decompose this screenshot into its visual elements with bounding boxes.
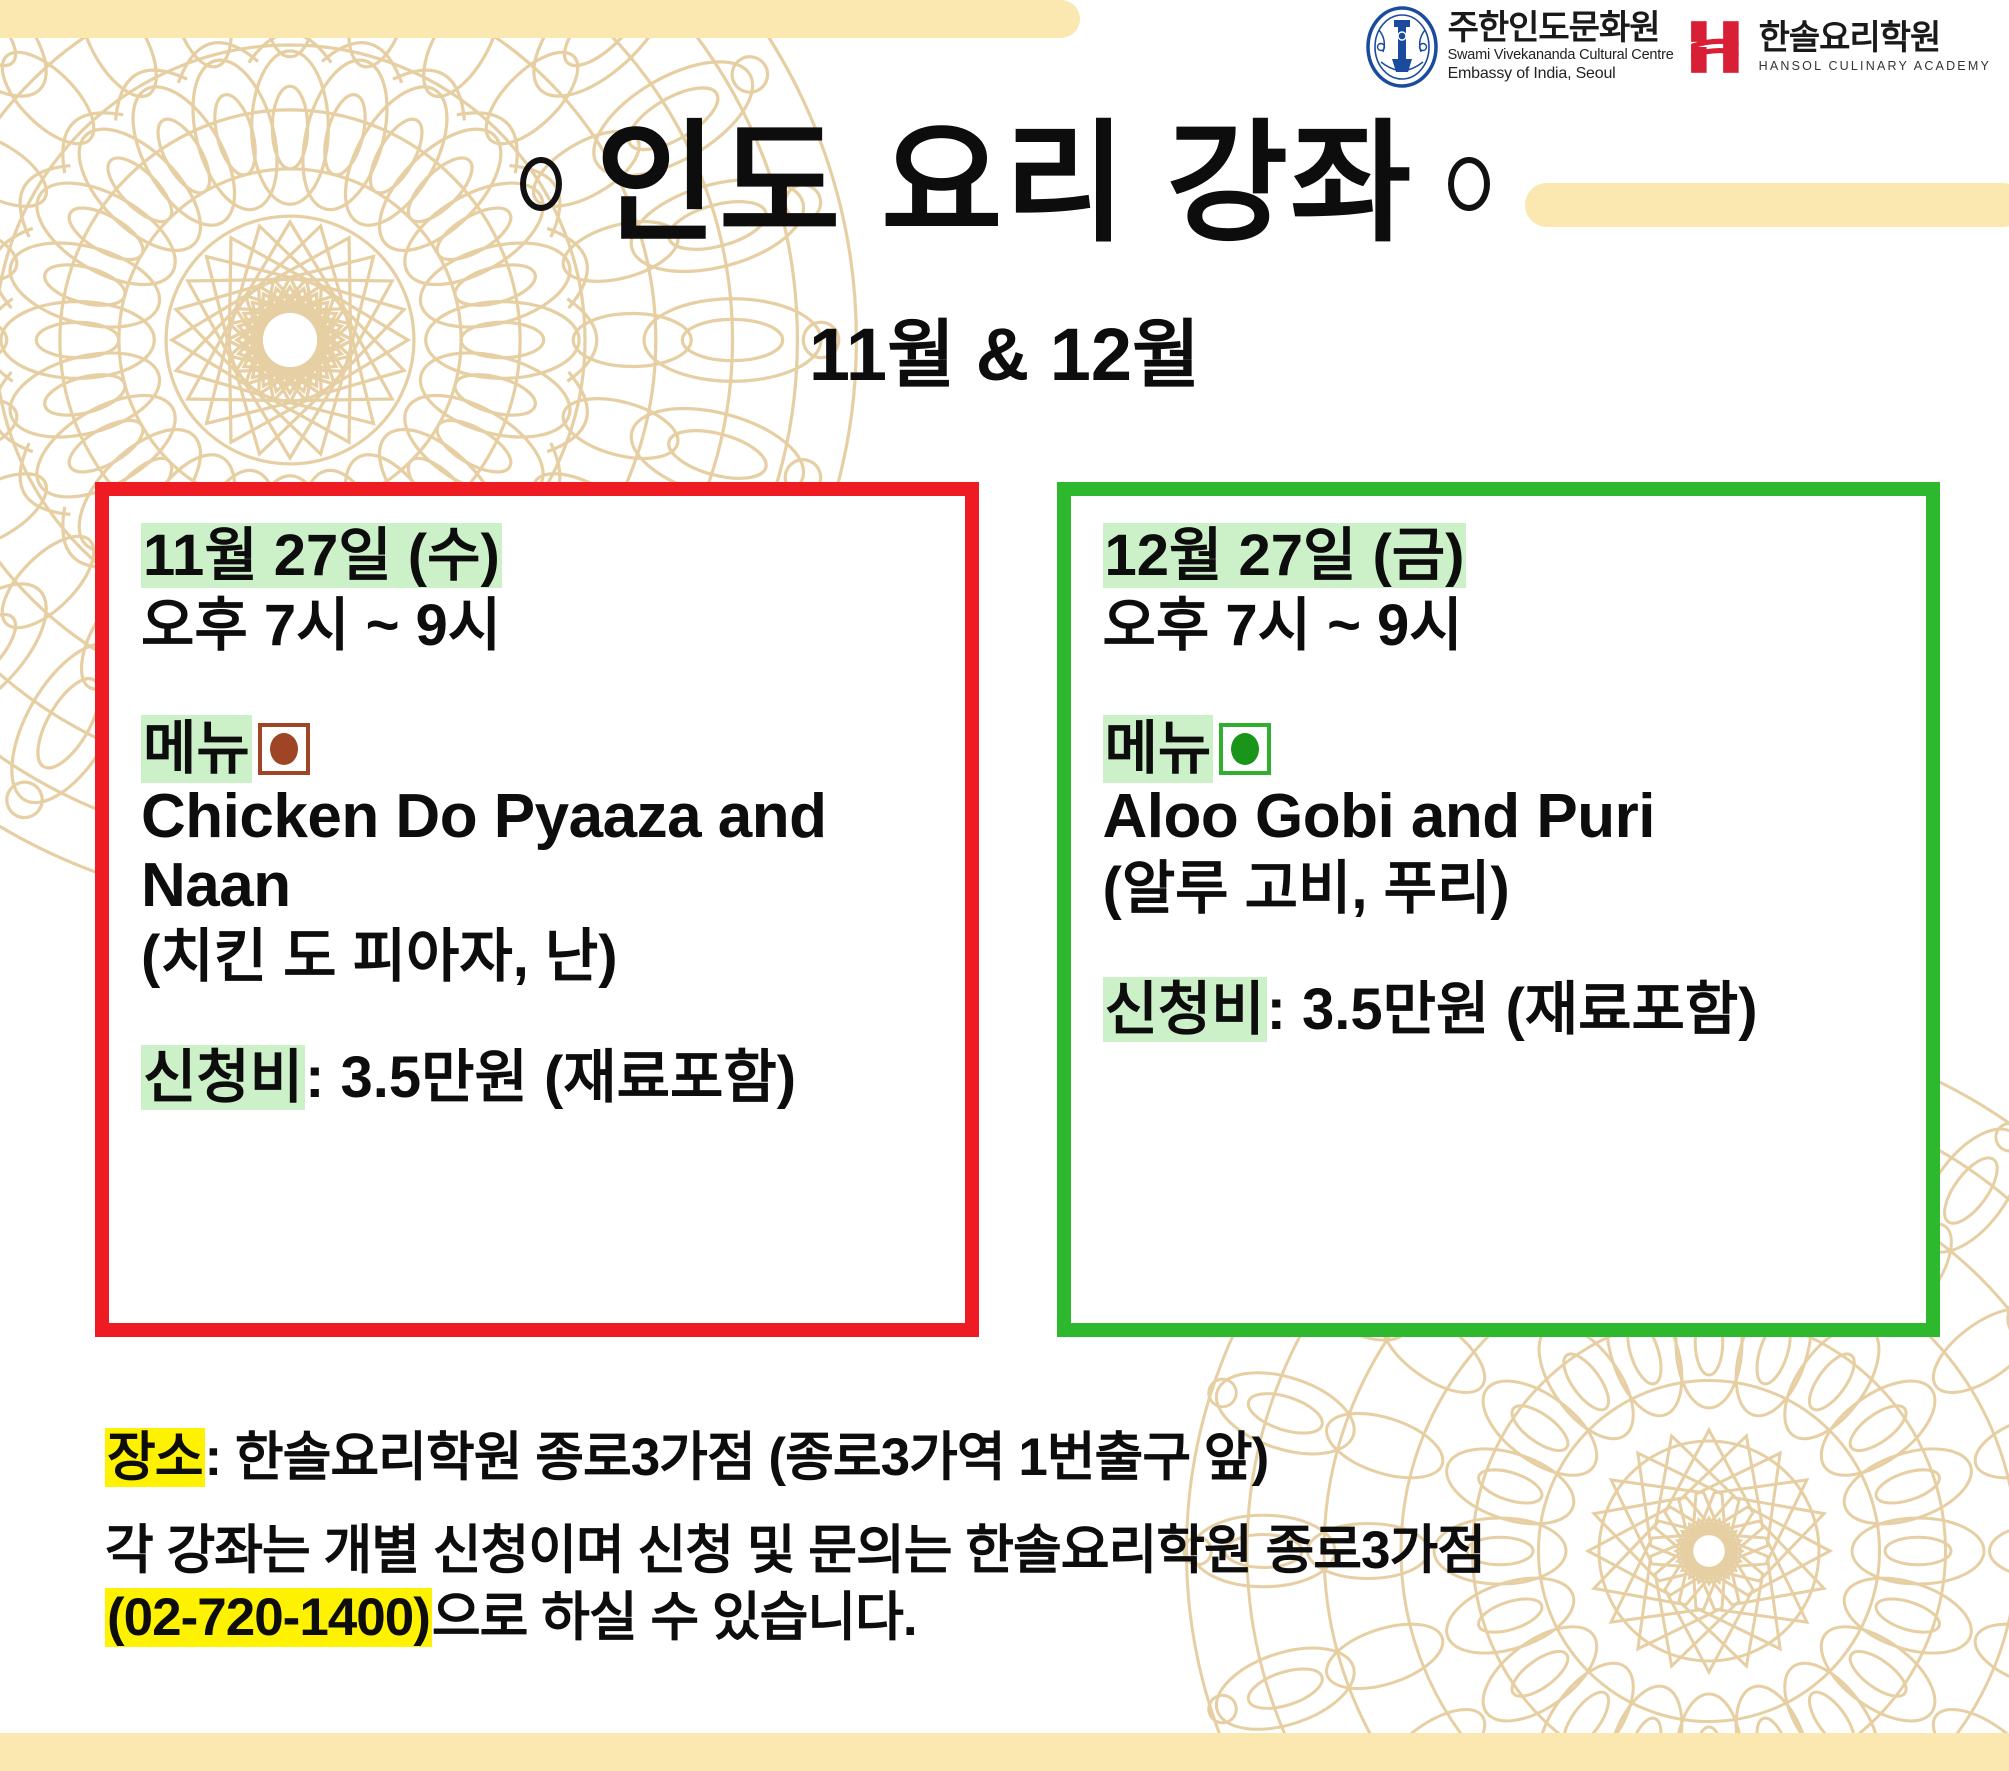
dish-name-en-november: Chicken Do Pyaaza and Naan	[141, 783, 943, 919]
footer-info: 장소: 한솔요리학원 종로3가점 (종로3가역 1번출구 앞) 각 강좌는 개별…	[105, 1425, 1935, 1651]
spacer	[1103, 661, 1905, 715]
logo-india-cultural-centre: 주한인도문화원 Swami Vivekananda Cultural Centr…	[1365, 6, 1674, 88]
accent-bar-top-left	[0, 0, 1080, 38]
logo-hansol-kr-name: 한솔요리학원	[1759, 21, 1991, 57]
venue-line: 장소: 한솔요리학원 종로3가점 (종로3가역 1번출구 앞)	[105, 1425, 1935, 1492]
page-title: 인도 요리 강좌	[596, 118, 1414, 250]
logo-hansol-en-name: HANSOL CULINARY ACADEMY	[1759, 59, 1991, 73]
logo-india-kr-name: 주한인도문화원	[1448, 11, 1674, 47]
header-logos: 주한인도문화원 Swami Vivekananda Cultural Centr…	[1365, 6, 1991, 88]
class-time-december: 오후 7시 ~ 9시	[1103, 592, 1905, 660]
class-time-november: 오후 7시 ~ 9시	[141, 592, 943, 660]
menu-label-december: 메뉴	[1103, 715, 1214, 783]
dish-name-en-december: Aloo Gobi and Puri	[1103, 783, 1905, 851]
circle-ornament-icon-right	[1448, 157, 1490, 211]
page-title-row: 인도 요리 강좌	[0, 118, 2009, 250]
accent-bar-bottom	[0, 1733, 2009, 1771]
dish-name-kr-november: (치킨 도 피아자, 난)	[141, 924, 943, 991]
logo-india-en-line2: Embassy of India, Seoul	[1448, 64, 1674, 83]
hansol-h-mark-icon	[1688, 16, 1750, 78]
class-card-november: 11월 27일 (수) 오후 7시 ~ 9시 메뉴 Chicken Do Pya…	[95, 482, 979, 1337]
logo-india-en-line1: Swami Vivekananda Cultural Centre	[1448, 47, 1674, 64]
spacer	[141, 661, 943, 715]
logo-hansol-culinary-academy: 한솔요리학원 HANSOL CULINARY ACADEMY	[1688, 16, 1991, 78]
non-veg-mark-icon	[258, 723, 310, 775]
menu-label-row-november: 메뉴	[141, 715, 943, 783]
inquiry-tail: 으로 하실 수 있습니다.	[432, 1588, 917, 1647]
phone-number[interactable]: (02-720-1400)	[105, 1588, 432, 1647]
poster-canvas: 주한인도문화원 Swami Vivekananda Cultural Centr…	[0, 0, 2009, 1771]
class-fee-december: 신청비: 3.5만원 (재료포함)	[1103, 976, 1905, 1044]
class-cards-container: 11월 27일 (수) 오후 7시 ~ 9시 메뉴 Chicken Do Pya…	[95, 482, 1940, 1337]
ashoka-pillar-emblem-icon	[1365, 6, 1439, 88]
spacer	[141, 990, 943, 1044]
class-date-november: 11월 27일 (수)	[141, 522, 943, 590]
class-card-december: 12월 27일 (금) 오후 7시 ~ 9시 메뉴 Aloo Gobi and …	[1057, 482, 1941, 1337]
veg-mark-icon	[1219, 723, 1271, 775]
spacer	[1103, 922, 1905, 976]
menu-label-row-december: 메뉴	[1103, 715, 1905, 783]
class-fee-november: 신청비: 3.5만원 (재료포함)	[141, 1044, 943, 1112]
page-subtitle: 11월 & 12월	[0, 295, 2009, 402]
class-date-december: 12월 27일 (금)	[1103, 522, 1905, 590]
dish-name-kr-december: (알루 고비, 푸리)	[1103, 856, 1905, 923]
venue-value: : 한솔요리학원 종로3가점 (종로3가역 1번출구 앞)	[205, 1428, 1269, 1487]
menu-label-november: 메뉴	[141, 715, 252, 783]
inquiry-line-1: 각 강좌는 개별 신청이며 신청 및 문의는 한솔요리학원 종로3가점	[105, 1518, 1935, 1585]
venue-label: 장소	[105, 1428, 205, 1487]
inquiry-line-2: (02-720-1400)으로 하실 수 있습니다.	[105, 1585, 1935, 1652]
circle-ornament-icon-left	[520, 157, 562, 211]
